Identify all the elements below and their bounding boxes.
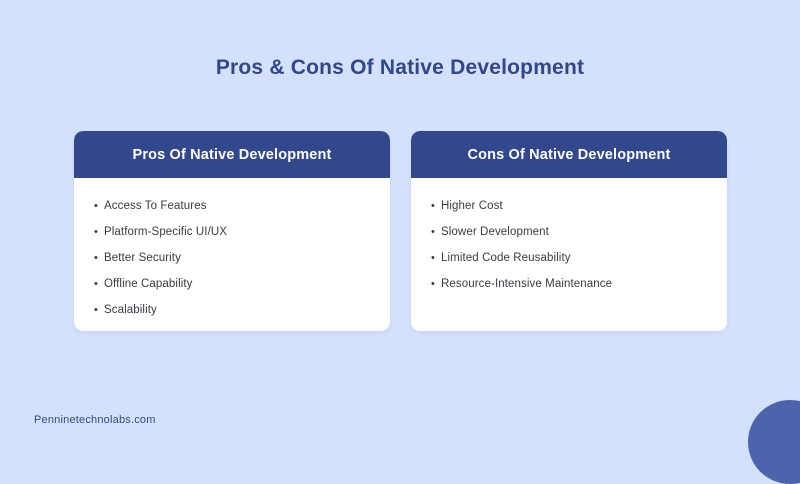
decorative-circle <box>748 400 800 484</box>
list-item-label: Access To Features <box>104 193 207 219</box>
bullet-icon: • <box>94 271 104 297</box>
bullet-icon: • <box>431 245 441 271</box>
slide-canvas: Pros & Cons Of Native Development Pros O… <box>0 0 800 450</box>
list-item: • Resource-Intensive Maintenance <box>411 271 727 297</box>
list-item: • Offline Capability <box>74 271 390 297</box>
list-item: • Scalability <box>74 297 390 323</box>
cons-card-body: • Higher Cost • Slower Development • Lim… <box>411 178 727 331</box>
pros-card-body: • Access To Features • Platform-Specific… <box>74 178 390 331</box>
cons-card: Cons Of Native Development • Higher Cost… <box>411 131 727 331</box>
comparison-cards-row: Pros Of Native Development • Access To F… <box>74 131 727 331</box>
list-item: • Higher Cost <box>411 193 727 219</box>
pros-card-header: Pros Of Native Development <box>74 131 390 178</box>
cons-card-header: Cons Of Native Development <box>411 131 727 178</box>
bullet-icon: • <box>431 271 441 297</box>
list-item: • Platform-Specific UI/UX <box>74 219 390 245</box>
bullet-icon: • <box>94 219 104 245</box>
list-item-label: Higher Cost <box>441 193 503 219</box>
bullet-icon: • <box>94 193 104 219</box>
list-item-label: Slower Development <box>441 219 549 245</box>
page-title: Pros & Cons Of Native Development <box>0 56 800 80</box>
list-item: • Better Security <box>74 245 390 271</box>
list-item-label: Offline Capability <box>104 271 193 297</box>
footer-brand-url: Penninetechnolabs.com <box>34 414 156 426</box>
list-item: • Access To Features <box>74 193 390 219</box>
pros-list: • Access To Features • Platform-Specific… <box>74 193 390 323</box>
bullet-icon: • <box>94 245 104 271</box>
list-item-label: Limited Code Reusability <box>441 245 571 271</box>
cons-list: • Higher Cost • Slower Development • Lim… <box>411 193 727 297</box>
list-item-label: Platform-Specific UI/UX <box>104 219 227 245</box>
bullet-icon: • <box>431 193 441 219</box>
list-item: • Slower Development <box>411 219 727 245</box>
list-item-label: Better Security <box>104 245 181 271</box>
bullet-icon: • <box>94 297 104 323</box>
list-item: • Limited Code Reusability <box>411 245 727 271</box>
bullet-icon: • <box>431 219 441 245</box>
list-item-label: Scalability <box>104 297 157 323</box>
pros-card: Pros Of Native Development • Access To F… <box>74 131 390 331</box>
list-item-label: Resource-Intensive Maintenance <box>441 271 612 297</box>
